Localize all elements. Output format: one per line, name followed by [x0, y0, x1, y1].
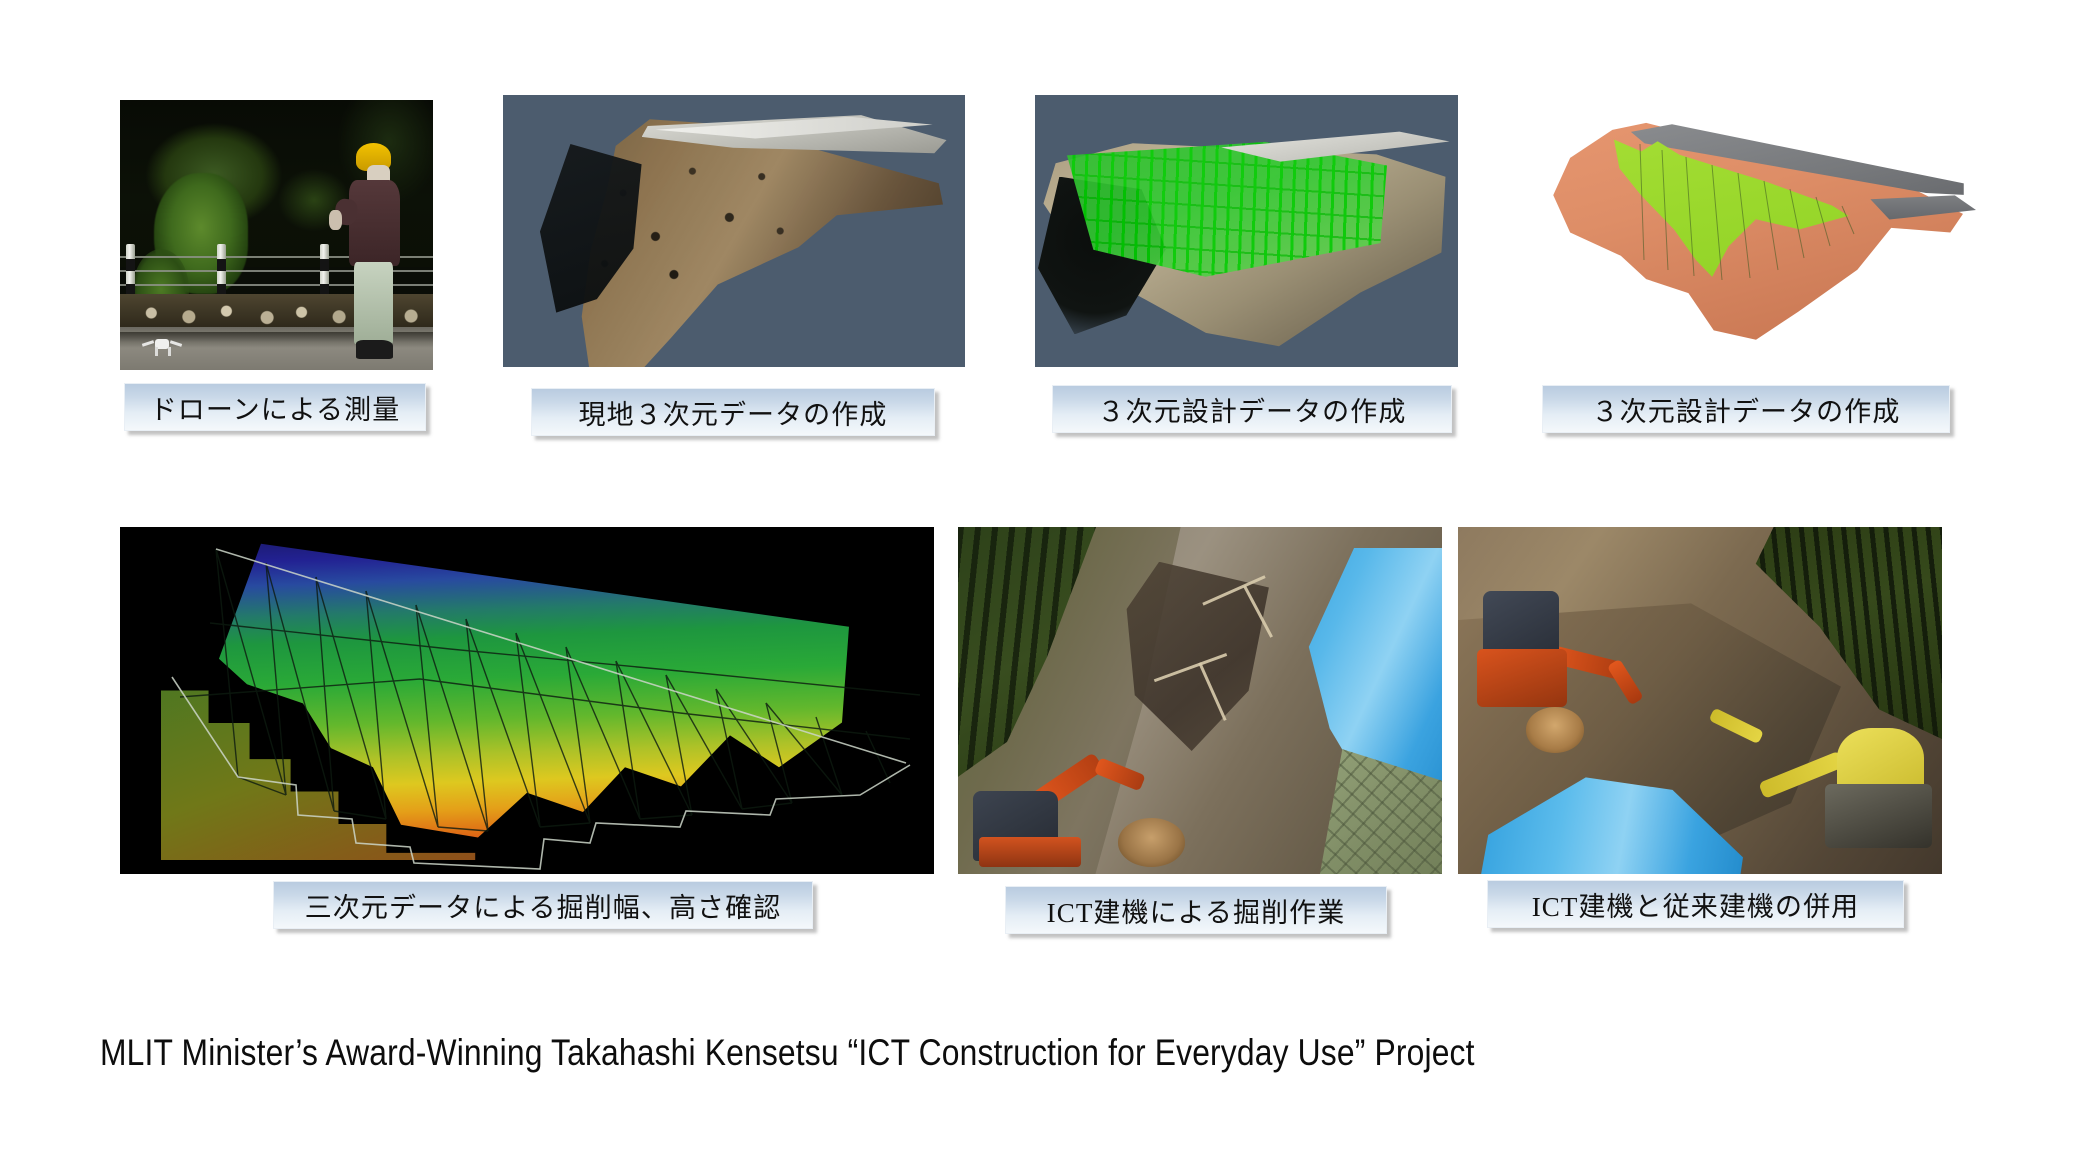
page-title: MLIT Minister’s Award-Winning Takahashi …: [100, 1032, 1475, 1074]
ict-and-conventional-machines-photo: [1458, 527, 1942, 874]
orange-excavator: [973, 714, 1138, 867]
caption-text: ドローンによる測量: [150, 388, 401, 427]
drone-survey-photo: [120, 100, 433, 370]
orange-excavator: [1477, 583, 1613, 722]
yellow-excavator: [1787, 714, 1932, 853]
drone: [145, 332, 179, 356]
tree-stump: [1526, 707, 1584, 752]
tree-stump: [1118, 818, 1186, 867]
ict-excavator-work-photo: [958, 527, 1442, 874]
caption-plate-4: ３次元設計データの作成: [1542, 385, 1950, 433]
contour-lines: [1536, 100, 1976, 365]
caption-text: ICT建機による掘削作業: [1047, 891, 1346, 930]
caption-text: ３次元設計データの作成: [1592, 390, 1901, 429]
caption-text: 三次元データによる掘削幅、高さ確認: [305, 886, 782, 925]
tin-height-check: [120, 527, 934, 874]
caption-text: ３次元設計データの作成: [1098, 390, 1407, 429]
caption-plate-5: 三次元データによる掘削幅、高さ確認: [273, 881, 813, 929]
caption-text: 現地３次元データの作成: [579, 393, 888, 432]
caption-plate-7: ICT建機と従来建機の併用: [1487, 880, 1904, 928]
site-point-cloud: [503, 95, 965, 367]
tin-triangulation-lines: [120, 527, 934, 874]
caption-text: ICT建機と従来建機の併用: [1532, 885, 1860, 924]
surveyor-worker: [339, 143, 408, 359]
caption-plate-6: ICT建機による掘削作業: [1005, 886, 1387, 934]
caption-plate-1: ドローンによる測量: [124, 383, 426, 431]
design-surface-model: [1536, 100, 1976, 365]
caption-plate-2: 現地３次元データの作成: [531, 388, 935, 436]
design-mesh-overlay: [1035, 95, 1458, 367]
slide-canvas: ドローンによる測量 現地３次元データの作成 ３次元設計データの作成 ３次元設計デ…: [0, 0, 2084, 1165]
caption-plate-3: ３次元設計データの作成: [1052, 385, 1452, 433]
